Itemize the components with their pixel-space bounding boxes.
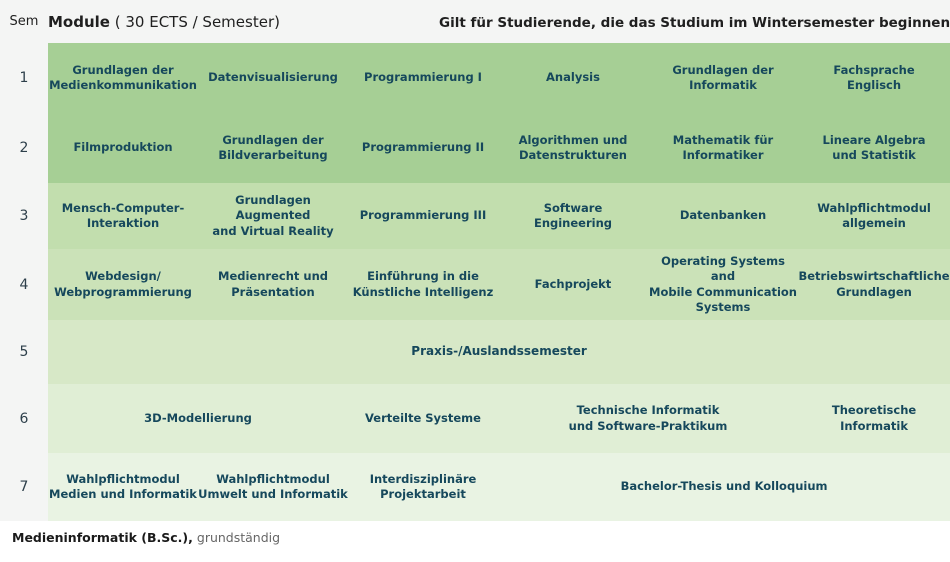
module-cell[interactable]: Mathematik fürInformatiker <box>648 113 798 183</box>
module-cell[interactable]: Datenvisualisierung <box>198 43 348 113</box>
curriculum-page: Sem Module ( 30 ECTS / Semester) Gilt fü… <box>0 0 950 562</box>
header-module-rest: ( 30 ECTS / Semester) <box>110 13 280 31</box>
semester-number-cell: 4 <box>0 249 48 320</box>
module-cell[interactable]: WahlpflichtmodulMedien und Informatik <box>48 453 198 521</box>
header-sem-label: Sem <box>0 0 48 43</box>
module-cell[interactable]: BetriebswirtschaftlicheGrundlagen <box>798 249 950 320</box>
table-body: 1Grundlagen derMedienkommunikationDatenv… <box>0 43 950 521</box>
module-cell[interactable]: TheoretischeInformatik <box>798 384 950 453</box>
semester-number-cell: 1 <box>0 43 48 113</box>
caption-degree: Medieninformatik (B.Sc.), <box>12 530 193 545</box>
semester-number-cell: 2 <box>0 113 48 183</box>
module-cell[interactable]: Filmproduktion <box>48 113 198 183</box>
module-cell[interactable]: InterdisziplinäreProjektarbeit <box>348 453 498 521</box>
module-cell[interactable]: Einführung in dieKünstliche Intelligenz <box>348 249 498 320</box>
module-cell[interactable]: Programmierung II <box>348 113 498 183</box>
header-note: Gilt für Studierende, die das Studium im… <box>439 15 950 31</box>
module-cell[interactable]: Mensch-Computer-Interaktion <box>48 183 198 249</box>
module-cell[interactable]: Verteilte Systeme <box>348 384 498 453</box>
caption-kind: grundständig <box>193 530 280 545</box>
module-cell[interactable]: Bachelor-Thesis und Kolloquium <box>498 453 950 521</box>
module-cell[interactable]: Datenbanken <box>648 183 798 249</box>
module-cell[interactable]: Wahlpflichtmodulallgemein <box>798 183 950 249</box>
module-cell[interactable]: Analysis <box>498 43 648 113</box>
module-cell[interactable]: Fachprojekt <box>498 249 648 320</box>
module-cell[interactable]: SoftwareEngineering <box>498 183 648 249</box>
module-cell[interactable]: WahlpflichtmodulUmwelt und Informatik <box>198 453 348 521</box>
module-cell[interactable]: Grundlagen Augmentedand Virtual Reality <box>198 183 348 249</box>
module-cell[interactable]: Grundlagen derBildverarbeitung <box>198 113 348 183</box>
module-cell[interactable]: Grundlagen derInformatik <box>648 43 798 113</box>
module-cell[interactable]: Medienrecht undPräsentation <box>198 249 348 320</box>
module-cell[interactable]: Lineare Algebraund Statistik <box>798 113 950 183</box>
semester-row: 63D-ModellierungVerteilte SystemeTechnis… <box>0 384 950 453</box>
header-module-bar: Module ( 30 ECTS / Semester) Gilt für St… <box>48 0 950 43</box>
header-module-title: Module ( 30 ECTS / Semester) <box>48 13 280 31</box>
module-cell[interactable]: Praxis-/Auslandssemester <box>48 320 950 384</box>
table-header: Sem Module ( 30 ECTS / Semester) Gilt fü… <box>0 0 950 43</box>
module-cell[interactable]: FachspracheEnglisch <box>798 43 950 113</box>
module-cell[interactable]: Technische Informatikund Software-Prakti… <box>498 384 798 453</box>
module-cell[interactable]: Webdesign/Webprogrammierung <box>48 249 198 320</box>
module-cell[interactable]: Programmierung III <box>348 183 498 249</box>
module-cell[interactable]: Operating Systems andMobile Communicatio… <box>648 249 798 320</box>
header-module-strong: Module <box>48 13 110 31</box>
semester-row: 5Praxis-/Auslandssemester <box>0 320 950 384</box>
module-cell[interactable]: 3D-Modellierung <box>48 384 348 453</box>
curriculum-table: Sem Module ( 30 ECTS / Semester) Gilt fü… <box>0 0 950 521</box>
semester-number-cell: 6 <box>0 384 48 453</box>
module-cell[interactable]: Programmierung I <box>348 43 498 113</box>
semester-number-cell: 3 <box>0 183 48 249</box>
table-caption: Medieninformatik (B.Sc.), grundständig <box>0 521 950 545</box>
semester-row: 7WahlpflichtmodulMedien und InformatikWa… <box>0 453 950 521</box>
semester-row: 4Webdesign/WebprogrammierungMedienrecht … <box>0 249 950 320</box>
module-cell[interactable]: Grundlagen derMedienkommunikation <box>48 43 198 113</box>
module-cell[interactable]: Algorithmen undDatenstrukturen <box>498 113 648 183</box>
semester-row: 2FilmproduktionGrundlagen derBildverarbe… <box>0 113 950 183</box>
semester-row: 3Mensch-Computer-InteraktionGrundlagen A… <box>0 183 950 249</box>
semester-number-cell: 7 <box>0 453 48 521</box>
semester-row: 1Grundlagen derMedienkommunikationDatenv… <box>0 43 950 113</box>
semester-number-cell: 5 <box>0 320 48 384</box>
header-row: Sem Module ( 30 ECTS / Semester) Gilt fü… <box>0 0 950 43</box>
